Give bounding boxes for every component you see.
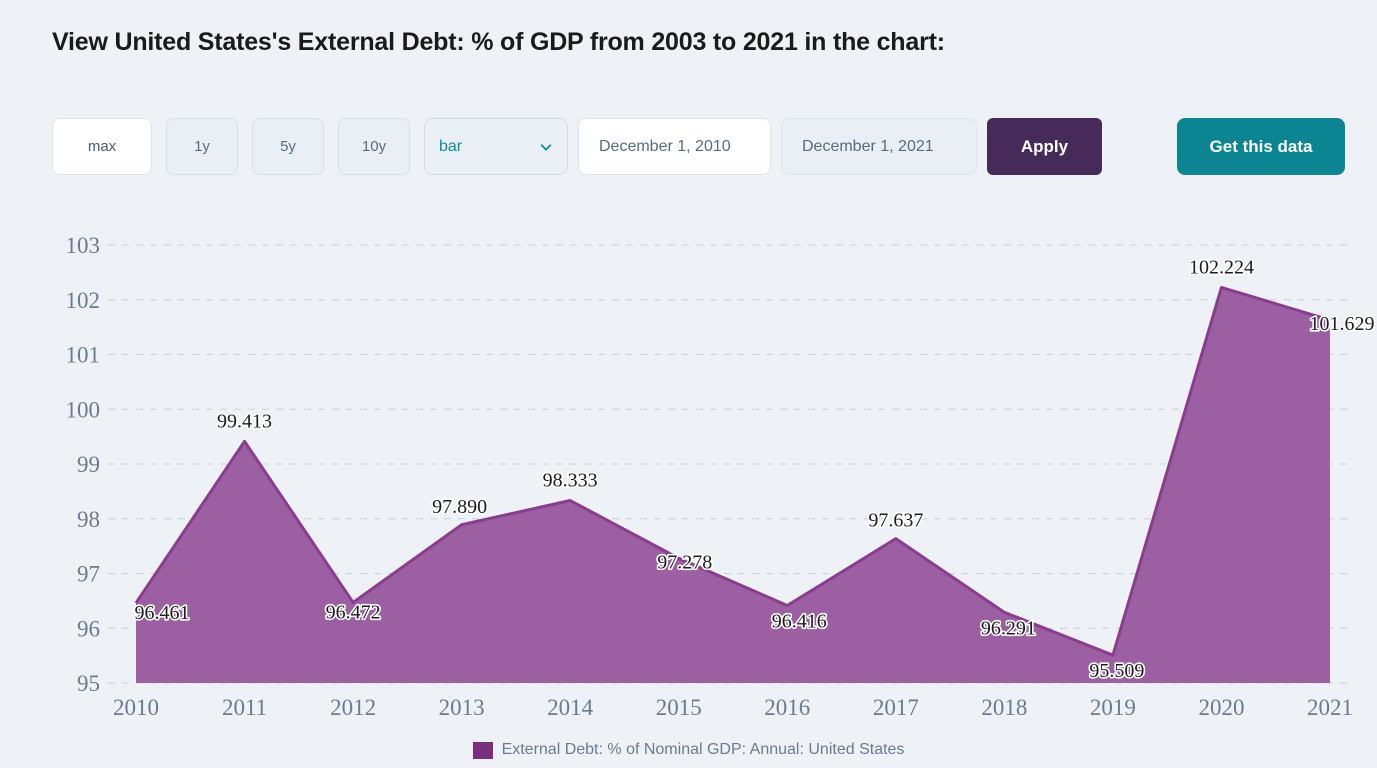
data-point-value-label: 97.278 bbox=[657, 551, 712, 573]
data-point-value-label: 96.472 bbox=[326, 601, 381, 623]
x-axis-tick-label: 2018 bbox=[981, 695, 1027, 720]
chart-area: 9596979899100101102103 96.46199.41396.47… bbox=[0, 215, 1377, 735]
y-axis-tick-label: 100 bbox=[66, 397, 101, 422]
data-point-value-label: 97.890 bbox=[432, 496, 487, 518]
data-point-value-label: 97.637 bbox=[868, 510, 923, 532]
chart-toolbar: max 1y 5y 10y bar December 1, 2010 Decem… bbox=[52, 118, 1102, 175]
data-point-value-label: 102.224 bbox=[1189, 256, 1254, 278]
data-point-value-label: 101.629 bbox=[1310, 313, 1375, 335]
y-axis-tick-label: 98 bbox=[77, 507, 100, 532]
chart-legend: External Debt: % of Nominal GDP: Annual:… bbox=[0, 741, 1377, 759]
x-axis-tick-label: 2011 bbox=[222, 695, 267, 720]
x-axis-tick-label: 2019 bbox=[1090, 695, 1136, 720]
range-button-max-label: max bbox=[88, 138, 116, 155]
y-axis-tick-label: 99 bbox=[77, 452, 100, 477]
y-axis-tick-label: 101 bbox=[66, 343, 101, 368]
start-date-input[interactable]: December 1, 2010 bbox=[578, 118, 771, 175]
chart-x-axis-labels: 2010201120122013201420152016201720182019… bbox=[113, 695, 1353, 720]
x-axis-tick-label: 2015 bbox=[656, 695, 702, 720]
chart-type-select[interactable]: bar bbox=[424, 118, 568, 175]
range-button-10y[interactable]: 10y bbox=[338, 118, 410, 175]
area-chart: 9596979899100101102103 96.46199.41396.47… bbox=[0, 215, 1377, 735]
range-button-1y-label: 1y bbox=[194, 138, 210, 155]
x-axis-tick-label: 2016 bbox=[764, 695, 810, 720]
get-this-data-button[interactable]: Get this data bbox=[1177, 118, 1345, 175]
legend-color-swatch bbox=[473, 742, 493, 759]
apply-button[interactable]: Apply bbox=[987, 118, 1102, 175]
range-button-10y-label: 10y bbox=[362, 138, 386, 155]
page-title: View United States's External Debt: % of… bbox=[52, 28, 945, 57]
data-point-value-label: 96.416 bbox=[772, 610, 827, 632]
y-axis-tick-label: 102 bbox=[66, 288, 101, 313]
x-axis-tick-label: 2012 bbox=[330, 695, 376, 720]
x-axis-tick-label: 2021 bbox=[1307, 695, 1353, 720]
range-button-5y[interactable]: 5y bbox=[252, 118, 324, 175]
x-axis-tick-label: 2017 bbox=[873, 695, 919, 720]
x-axis-tick-label: 2013 bbox=[439, 695, 485, 720]
y-axis-tick-label: 95 bbox=[77, 671, 100, 696]
x-axis-tick-label: 2010 bbox=[113, 695, 159, 720]
range-button-5y-label: 5y bbox=[280, 138, 296, 155]
data-point-value-label: 98.333 bbox=[543, 470, 598, 492]
x-axis-tick-label: 2020 bbox=[1198, 695, 1244, 720]
end-date-input[interactable]: December 1, 2021 bbox=[781, 118, 977, 175]
data-point-value-label: 99.413 bbox=[217, 410, 272, 432]
data-point-value-label: 96.291 bbox=[981, 617, 1036, 639]
range-button-max[interactable]: max bbox=[52, 118, 152, 175]
legend-series-label: External Debt: % of Nominal GDP: Annual:… bbox=[502, 741, 905, 759]
series-area-fill bbox=[136, 287, 1330, 683]
data-point-value-label: 96.461 bbox=[135, 602, 190, 624]
range-button-1y[interactable]: 1y bbox=[166, 118, 238, 175]
y-axis-tick-label: 103 bbox=[66, 233, 101, 258]
chevron-down-icon bbox=[539, 140, 553, 154]
y-axis-tick-label: 96 bbox=[77, 616, 100, 641]
x-axis-tick-label: 2014 bbox=[547, 695, 594, 720]
data-point-value-label: 95.509 bbox=[1089, 660, 1144, 682]
y-axis-tick-label: 97 bbox=[77, 562, 100, 587]
chart-type-select-value: bar bbox=[439, 138, 539, 156]
chart-y-axis-labels: 9596979899100101102103 bbox=[66, 233, 101, 696]
